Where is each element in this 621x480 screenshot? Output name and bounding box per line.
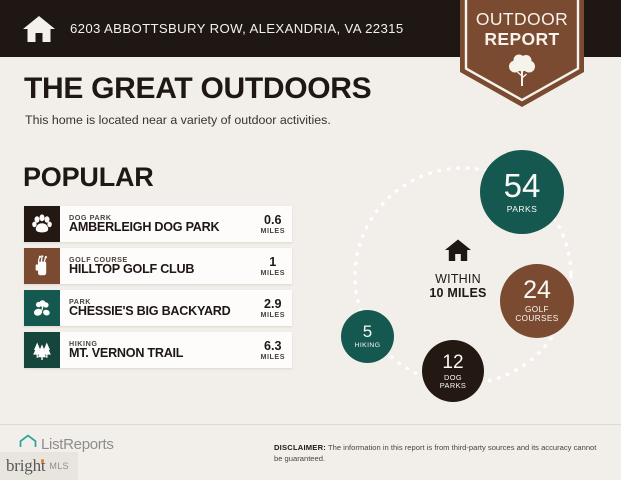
list-item-body: DOG PARK AMBERLEIGH DOG PARK 0.6 MILES xyxy=(60,206,292,242)
list-item[interactable]: GOLF COURSE HILLTOP GOLF CLUB 1 MILES xyxy=(24,248,292,284)
popular-list: DOG PARK AMBERLEIGH DOG PARK 0.6 MILES G… xyxy=(24,206,292,374)
outdoor-report-badge: OUTDOOR REPORT xyxy=(460,0,584,109)
distance-value: 2.9 xyxy=(261,298,285,311)
page-subtitle: This home is located near a variety of o… xyxy=(25,113,331,127)
list-item[interactable]: DOG PARK AMBERLEIGH DOG PARK 0.6 MILES xyxy=(24,206,292,242)
bubble-label-line-2: PARKS xyxy=(440,381,467,390)
home-icon xyxy=(406,238,510,268)
list-item-distance: 6.3 MILES xyxy=(261,340,285,361)
bubble-parks[interactable]: 54 PARKS xyxy=(480,150,564,234)
list-item-body: HIKING MT. VERNON TRAIL 6.3 MILES xyxy=(60,332,292,368)
bubble-label: GOLF COURSES xyxy=(515,306,558,323)
bubble-value: 5 xyxy=(363,323,372,340)
bright-text: bright xyxy=(6,456,45,475)
list-item-distance: 0.6 MILES xyxy=(261,214,285,235)
disclaimer: DISCLAIMER: The information in this repo… xyxy=(274,442,604,465)
bubble-dog-parks[interactable]: 12 DOG PARKS xyxy=(422,340,484,402)
amenities-bubble-chart: 54 PARKS 24 GOLF COURSES 12 DOG PARKS 5 … xyxy=(318,138,608,418)
bubble-value: 12 xyxy=(442,353,463,372)
distance-unit: MILES xyxy=(261,353,285,361)
disclaimer-label: DISCLAIMER: xyxy=(274,443,326,452)
footer-divider xyxy=(0,424,621,425)
bright-mls-watermark: bright MLS xyxy=(0,452,78,480)
page-title: THE GREAT OUTDOORS xyxy=(24,72,371,106)
distance-unit: MILES xyxy=(261,227,285,235)
distance-unit: MILES xyxy=(261,311,285,319)
bubble-value: 54 xyxy=(504,169,541,202)
bubble-label: PARKS xyxy=(507,205,538,214)
bubble-hiking[interactable]: 5 HIKING xyxy=(341,310,394,363)
chart-center-label: WITHIN 10 MILES xyxy=(406,238,510,301)
list-item[interactable]: PARK CHESSIE'S BIG BACKYARD 2.9 MILES xyxy=(24,290,292,326)
list-item-distance: 1 MILES xyxy=(261,256,285,277)
bubble-label-line-2: COURSES xyxy=(515,314,558,323)
list-item-name: MT. VERNON TRAIL xyxy=(69,347,183,360)
bubble-label-line-1: GOLF xyxy=(525,305,549,314)
list-item-name: HILLTOP GOLF CLUB xyxy=(69,263,194,276)
home-icon xyxy=(22,14,56,44)
bright-wordmark: bright xyxy=(6,456,45,476)
distance-unit: MILES xyxy=(261,269,285,277)
center-label-line-1: WITHIN xyxy=(406,272,510,286)
bright-dot-accent xyxy=(41,459,45,463)
bubble-golf-courses[interactable]: 24 GOLF COURSES xyxy=(500,264,574,338)
list-item-body: GOLF COURSE HILLTOP GOLF CLUB 1 MILES xyxy=(60,248,292,284)
list-item[interactable]: HIKING MT. VERNON TRAIL 6.3 MILES xyxy=(24,332,292,368)
popular-heading: POPULAR xyxy=(23,162,154,193)
listreports-wordmark: ListReports xyxy=(41,436,114,453)
list-item-name: CHESSIE'S BIG BACKYARD xyxy=(69,305,230,318)
list-item-distance: 2.9 MILES xyxy=(261,298,285,319)
paw-print-icon xyxy=(24,206,60,242)
mls-text: MLS xyxy=(49,461,68,471)
distance-value: 1 xyxy=(261,256,285,269)
list-item-body: PARK CHESSIE'S BIG BACKYARD 2.9 MILES xyxy=(60,290,292,326)
list-item-name: AMBERLEIGH DOG PARK xyxy=(69,221,219,234)
tree-bush-icon xyxy=(24,290,60,326)
bubble-label: HIKING xyxy=(355,342,381,349)
property-address: 6203 ABBOTTSBURY ROW, ALEXANDRIA, VA 223… xyxy=(70,21,404,36)
golf-bag-icon xyxy=(24,248,60,284)
distance-value: 6.3 xyxy=(261,340,285,353)
pine-trees-icon xyxy=(24,332,60,368)
bubble-value: 24 xyxy=(523,278,551,303)
bubble-label: DOG PARKS xyxy=(440,374,467,390)
distance-value: 0.6 xyxy=(261,214,285,227)
center-label-line-2: 10 MILES xyxy=(406,286,510,300)
